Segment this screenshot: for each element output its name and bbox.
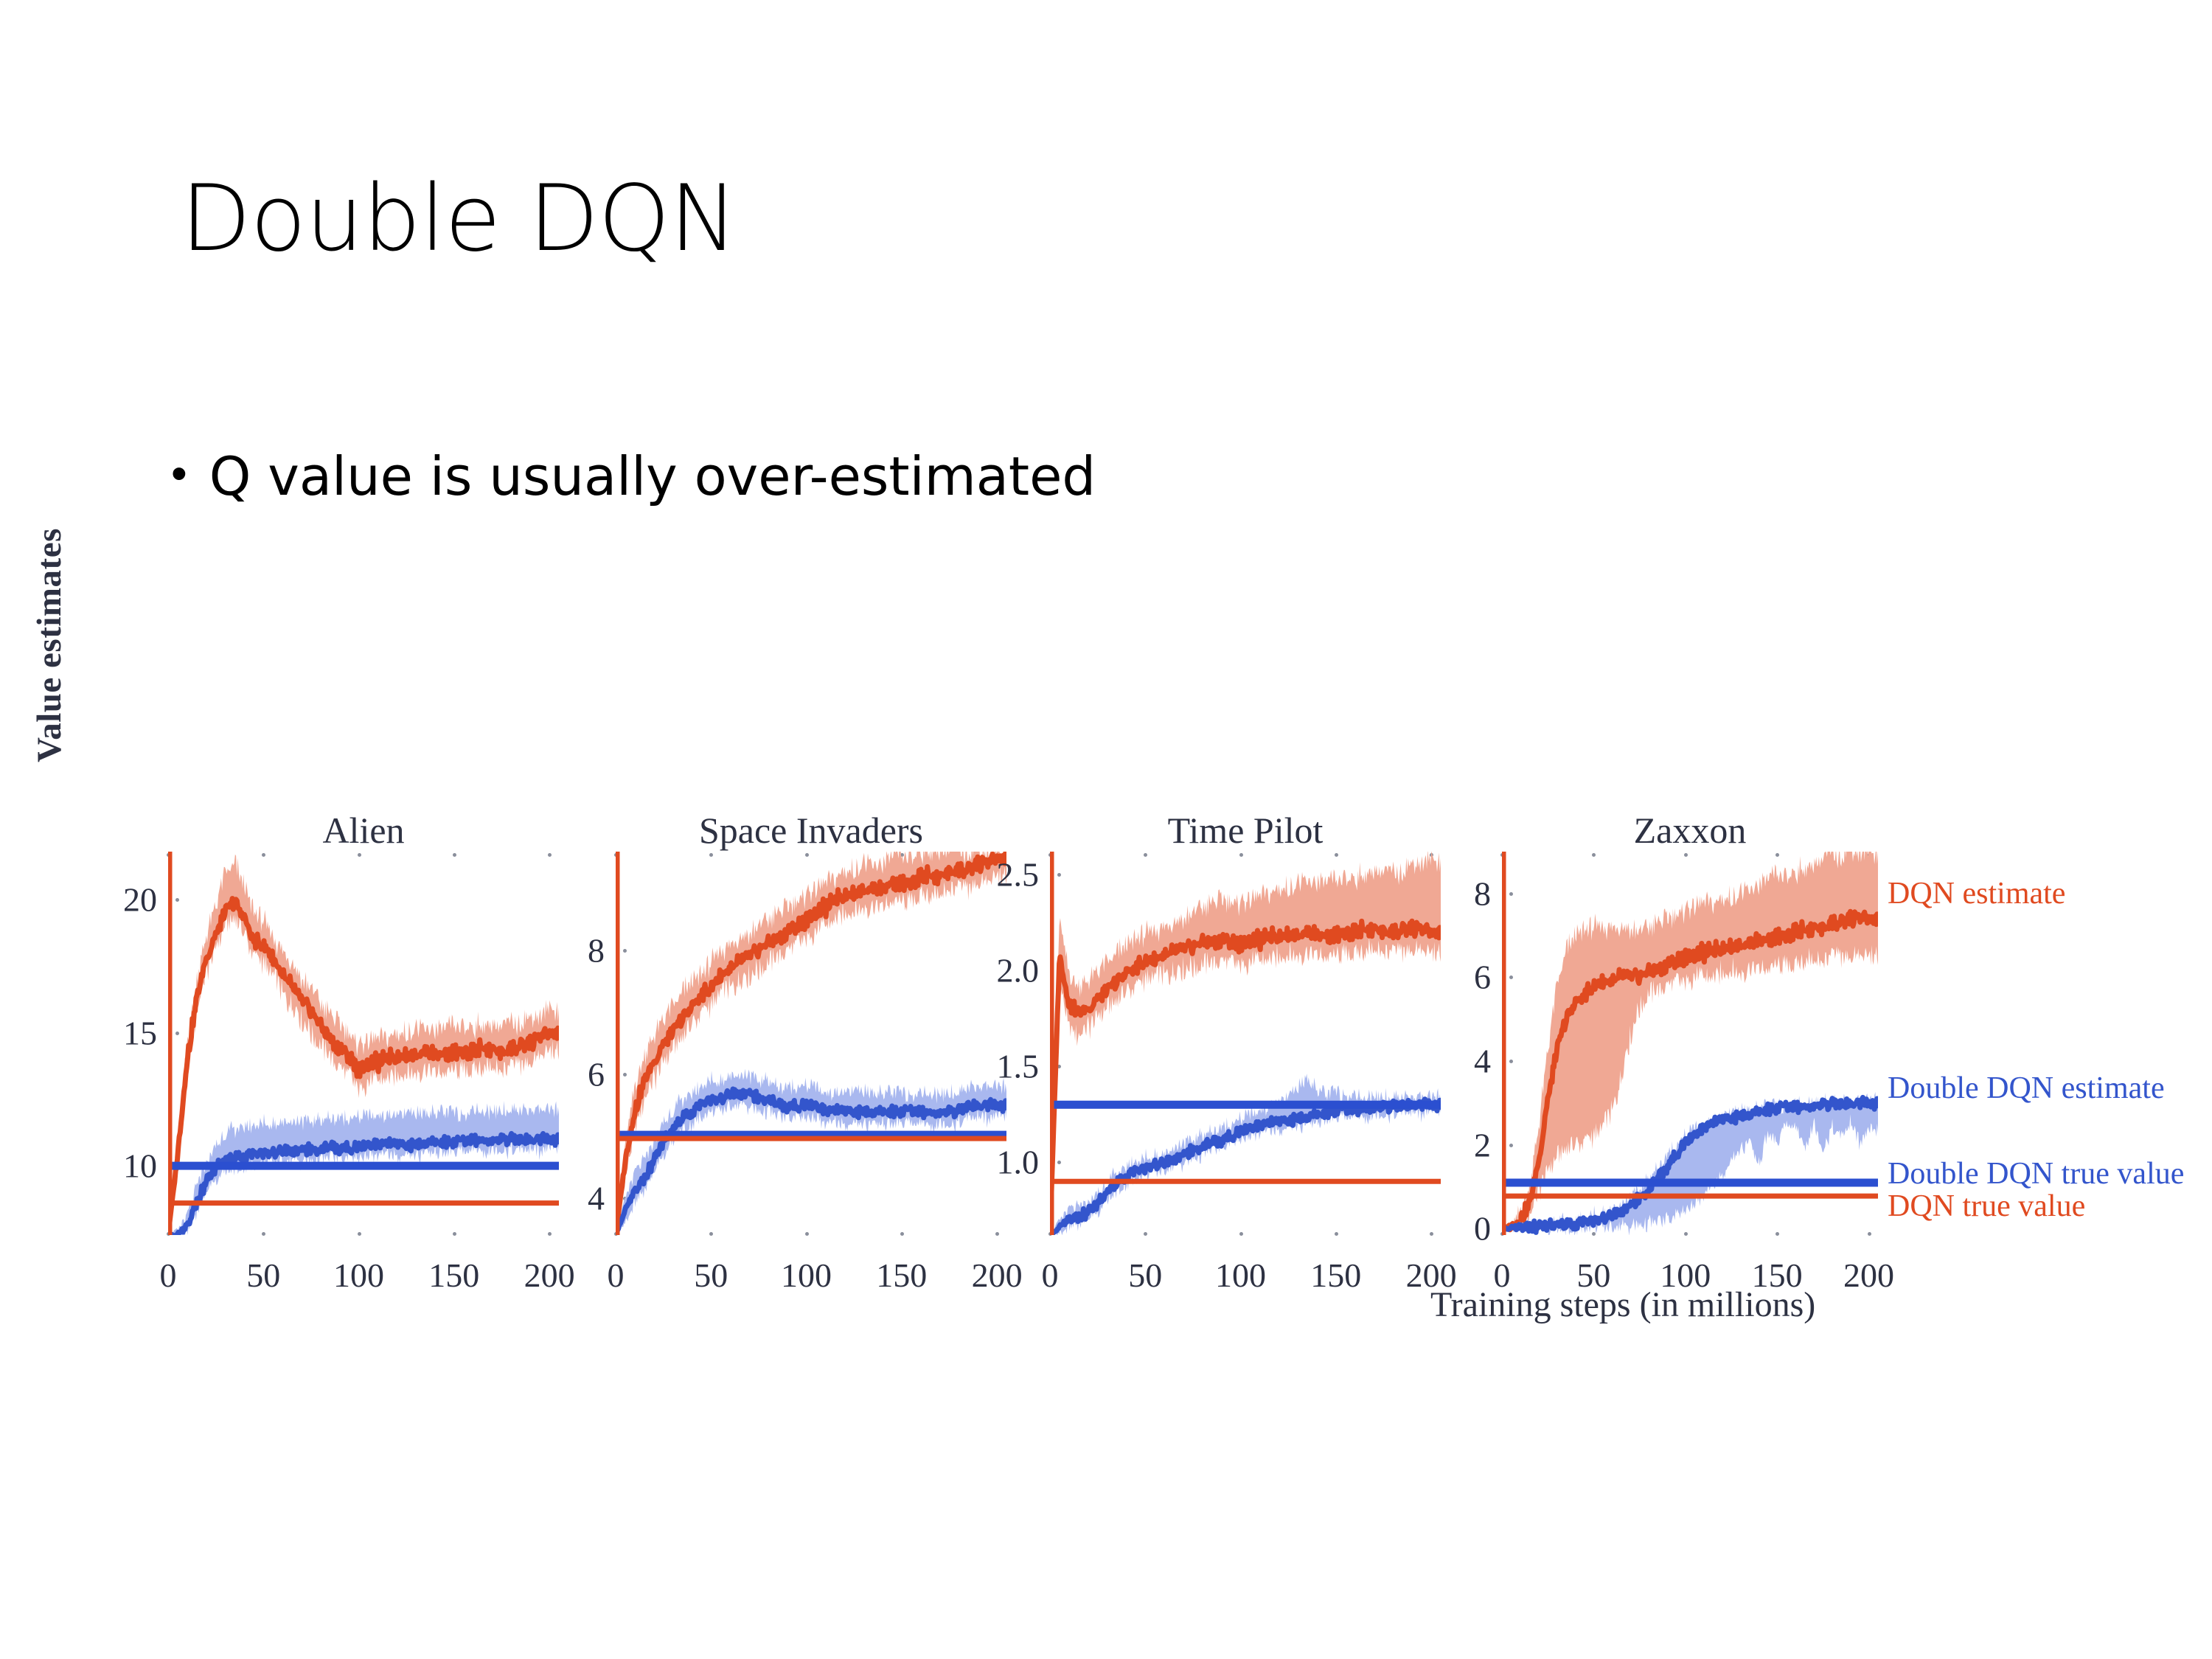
chart-panel-space-invaders: Space Invaders468050100150200 [616, 852, 1006, 1235]
confidence-band-dqn [1050, 852, 1441, 1235]
chart-panel-zaxxon: Zaxxon02468050100150200 [1502, 852, 1878, 1235]
chart-plot-area [1050, 852, 1441, 1235]
x-axis-tick-label: 200 [972, 1256, 1023, 1295]
x-axis-tick-label: 200 [1843, 1256, 1894, 1295]
chart-title: Time Pilot [1050, 809, 1441, 852]
x-axis-tick-label: 0 [1494, 1256, 1511, 1295]
y-axis-tick-label: 10 [80, 1147, 157, 1186]
x-axis-tick-label: 150 [876, 1256, 927, 1295]
chart-title: Space Invaders [616, 809, 1006, 852]
x-axis-tick-label: 100 [781, 1256, 832, 1295]
legend-label-double-dqn-estimate: Double DQN estimate [1888, 1071, 2165, 1106]
confidence-band-double-dqn [1050, 1074, 1441, 1235]
y-axis-tick-label: 20 [80, 880, 157, 919]
legend-label-double-dqn-true-value: Double DQN true value [1888, 1156, 2184, 1192]
bullet-list-item: • Q value is usually over-estimated [171, 450, 1096, 503]
chart-plot-area [168, 852, 559, 1235]
chart-plot-area [616, 852, 1006, 1235]
y-axis-tick-label: 4 [527, 1178, 605, 1217]
x-axis-tick-label: 200 [524, 1256, 575, 1295]
x-axis-tick-label: 0 [1042, 1256, 1059, 1295]
y-axis-tick-label: 15 [80, 1013, 157, 1052]
y-axis-tick-label: 1.5 [961, 1047, 1039, 1086]
x-axis-tick-label: 0 [608, 1256, 625, 1295]
y-axis-tick-label: 6 [527, 1054, 605, 1093]
chart-title: Zaxxon [1502, 809, 1878, 852]
x-axis-tick-label: 200 [1406, 1256, 1457, 1295]
chart-panel-time-pilot: Time Pilot1.01.52.02.5050100150200 [1050, 852, 1441, 1235]
legend-label-dqn-estimate: DQN estimate [1888, 876, 2065, 911]
y-axis-tick-label: 4 [1413, 1042, 1491, 1081]
page-title: Double DQN [181, 173, 737, 265]
value-estimates-figure: Alien101520050100150200Space Invaders468… [0, 752, 2212, 1416]
x-axis-tick-label: 50 [1128, 1256, 1162, 1295]
confidence-band-dqn [616, 852, 1006, 1235]
y-axis-tick-label: 2 [1413, 1125, 1491, 1164]
x-axis-tick-label: 100 [1215, 1256, 1266, 1295]
y-axis-tick-label: 6 [1413, 958, 1491, 997]
x-axis-tick-label: 50 [694, 1256, 728, 1295]
x-axis-tick-label: 100 [1660, 1256, 1711, 1295]
chart-title: Alien [168, 809, 559, 852]
series-line-dqn-estimate [616, 853, 1006, 1235]
y-axis-tick-label: 0 [1413, 1209, 1491, 1248]
x-axis-tick-label: 50 [1576, 1256, 1610, 1295]
x-axis-tick-label: 150 [428, 1256, 479, 1295]
legend-label-dqn-true-value: DQN true value [1888, 1189, 2085, 1224]
bullet-text: Q value is usually over-estimated [209, 450, 1096, 503]
chart-panel-alien: Alien101520050100150200 [168, 852, 559, 1235]
x-axis-tick-label: 150 [1752, 1256, 1803, 1295]
x-axis-tick-label: 150 [1310, 1256, 1361, 1295]
y-axis-tick-label: 1.0 [961, 1143, 1039, 1182]
x-axis-tick-label: 100 [333, 1256, 384, 1295]
chart-plot-area [1502, 852, 1878, 1235]
confidence-band-double-dqn [616, 1069, 1006, 1236]
x-axis-tick-label: 50 [246, 1256, 280, 1295]
series-line-double-dqn-estimate [616, 1089, 1006, 1235]
y-axis-tick-label: 2.5 [961, 855, 1039, 894]
y-axis-tick-label: 2.0 [961, 951, 1039, 990]
y-axis-tick-label: 8 [1413, 874, 1491, 913]
bullet-marker-icon: • [171, 451, 187, 497]
y-axis-tick-label: 8 [527, 931, 605, 970]
x-axis-tick-label: 0 [160, 1256, 177, 1295]
